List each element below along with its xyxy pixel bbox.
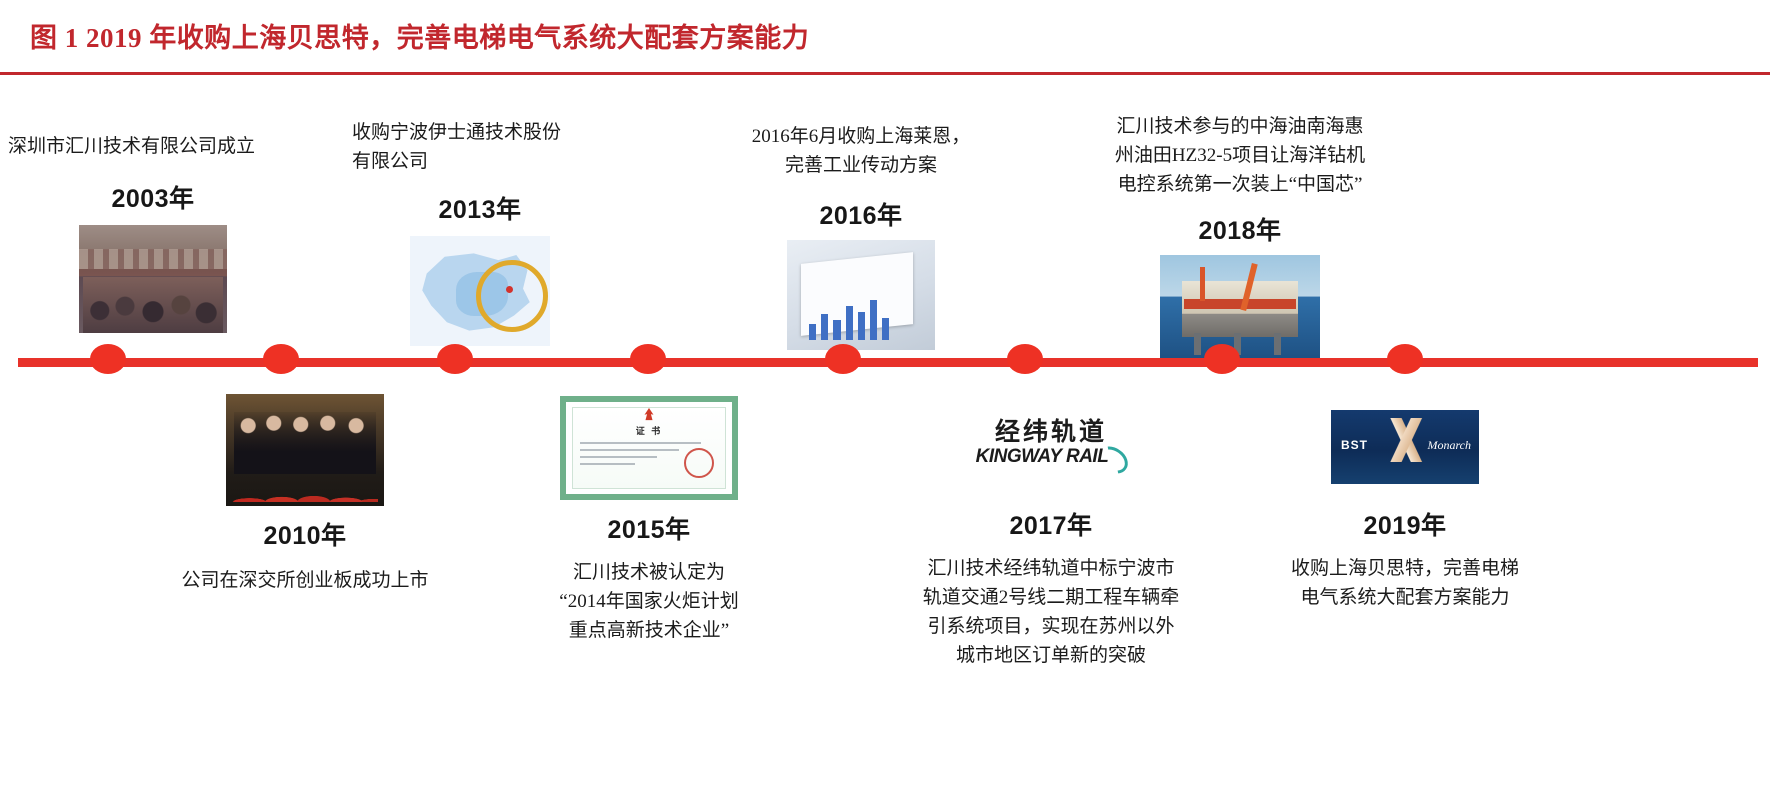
timeline-node-2010[interactable] — [263, 344, 299, 374]
timeline-node-2018[interactable] — [1204, 344, 1240, 374]
event-description: 深圳市汇川技术有限公司成立 — [8, 132, 298, 161]
timeline-event-2018: 汇川技术参与的中海油南海惠 州油田HZ32-5项目让海洋钻机 电控系统第一次装上… — [1090, 112, 1390, 363]
timeline-event-2013: 收购宁波伊士通技术股份 有限公司 2013年 — [352, 118, 608, 346]
certificate-photo: 证 书 — [560, 396, 738, 500]
event-description: 汇川技术经纬轨道中标宁波市 轨道交通2号线二期工程车辆牵 引系统项目，实现在苏州… — [905, 554, 1197, 670]
china-map-ningbo-photo — [410, 236, 550, 346]
event-description: 汇川技术参与的中海油南海惠 州油田HZ32-5项目让海洋钻机 电控系统第一次装上… — [1090, 112, 1390, 199]
certificate-title: 证 书 — [566, 424, 732, 437]
bar-chart-graphic — [797, 294, 889, 340]
event-year: 2018年 — [1090, 211, 1390, 247]
timeline-event-2016: 2016年6月收购上海莱恩， 完善工业传动方案 2016年 — [730, 122, 992, 350]
timeline-node-2003[interactable] — [90, 344, 126, 374]
timeline-node-2013[interactable] — [437, 344, 473, 374]
bst-monarch-handshake-logo: BST Monarch — [1331, 410, 1479, 484]
event-year: 2019年 — [1272, 506, 1538, 542]
ningbo-highlight-ring-icon — [476, 260, 548, 332]
rig-leg — [1194, 333, 1201, 355]
bst-label: BST — [1341, 438, 1368, 452]
timeline-node-2019[interactable] — [1387, 344, 1423, 374]
timeline-event-2015: 证 书 2015年 汇川技术被认定为 “2014年国家火炬计划 重点高新技术企业… — [520, 396, 778, 645]
event-year: 2017年 — [905, 506, 1197, 542]
timeline-event-2017: 经纬轨道 KINGWAY RAIL 2017年 汇川技术经纬轨道中标宁波市 轨道… — [905, 410, 1197, 670]
kingway-rail-logo-cn: 经纬轨道 — [967, 412, 1135, 448]
event-year: 2013年 — [352, 190, 608, 226]
figure-header: 图 1 2019 年收购上海贝思特，完善电梯电气系统大配套方案能力 — [0, 0, 1770, 78]
timeline-event-2003: 深圳市汇川技术有限公司成立 2003年 — [8, 132, 298, 333]
event-description: 2016年6月收购上海莱恩， 完善工业传动方案 — [730, 122, 992, 180]
red-ribbon-bases — [232, 472, 378, 502]
event-year: 2003年 — [8, 179, 298, 215]
offshore-oil-rig-photo — [1160, 255, 1320, 363]
official-seal-icon — [684, 448, 714, 478]
rig-derrick — [1200, 267, 1205, 301]
timeline-event-2010: 2010年 公司在深交所创业板成功上市 — [160, 394, 450, 595]
handshake-icon — [1375, 418, 1435, 462]
listing-ceremony-photo — [226, 394, 384, 506]
page-title: 图 1 2019 年收购上海贝思特，完善电梯电气系统大配套方案能力 — [30, 16, 809, 55]
tablet-bar-chart-photo — [787, 240, 935, 350]
event-description: 收购上海贝思特，完善电梯 电气系统大配套方案能力 — [1272, 554, 1538, 612]
monarch-label: Monarch — [1427, 438, 1471, 453]
kingway-rail-logo: 经纬轨道 KINGWAY RAIL — [967, 410, 1135, 484]
event-description: 公司在深交所创业板成功上市 — [160, 566, 450, 595]
executives-group — [234, 412, 376, 474]
rig-leg — [1274, 333, 1281, 355]
meeting-room-photo — [79, 225, 227, 333]
event-year: 2016年 — [730, 196, 992, 232]
timeline-node-2015[interactable] — [630, 344, 666, 374]
timeline-node-2016[interactable] — [825, 344, 861, 374]
event-year: 2010年 — [160, 516, 450, 552]
timeline-event-2019: BST Monarch 2019年 收购上海贝思特，完善电梯 电气系统大配套方案… — [1272, 410, 1538, 612]
kingway-rail-logo-en: KINGWAY RAIL — [967, 446, 1117, 468]
ningbo-marker-icon — [506, 286, 513, 293]
timeline-node-2017[interactable] — [1007, 344, 1043, 374]
event-description: 收购宁波伊士通技术股份 有限公司 — [352, 118, 608, 176]
event-year: 2015年 — [520, 510, 778, 546]
event-description: 汇川技术被认定为 “2014年国家火炬计划 重点高新技术企业” — [520, 558, 778, 645]
title-divider — [0, 72, 1770, 75]
